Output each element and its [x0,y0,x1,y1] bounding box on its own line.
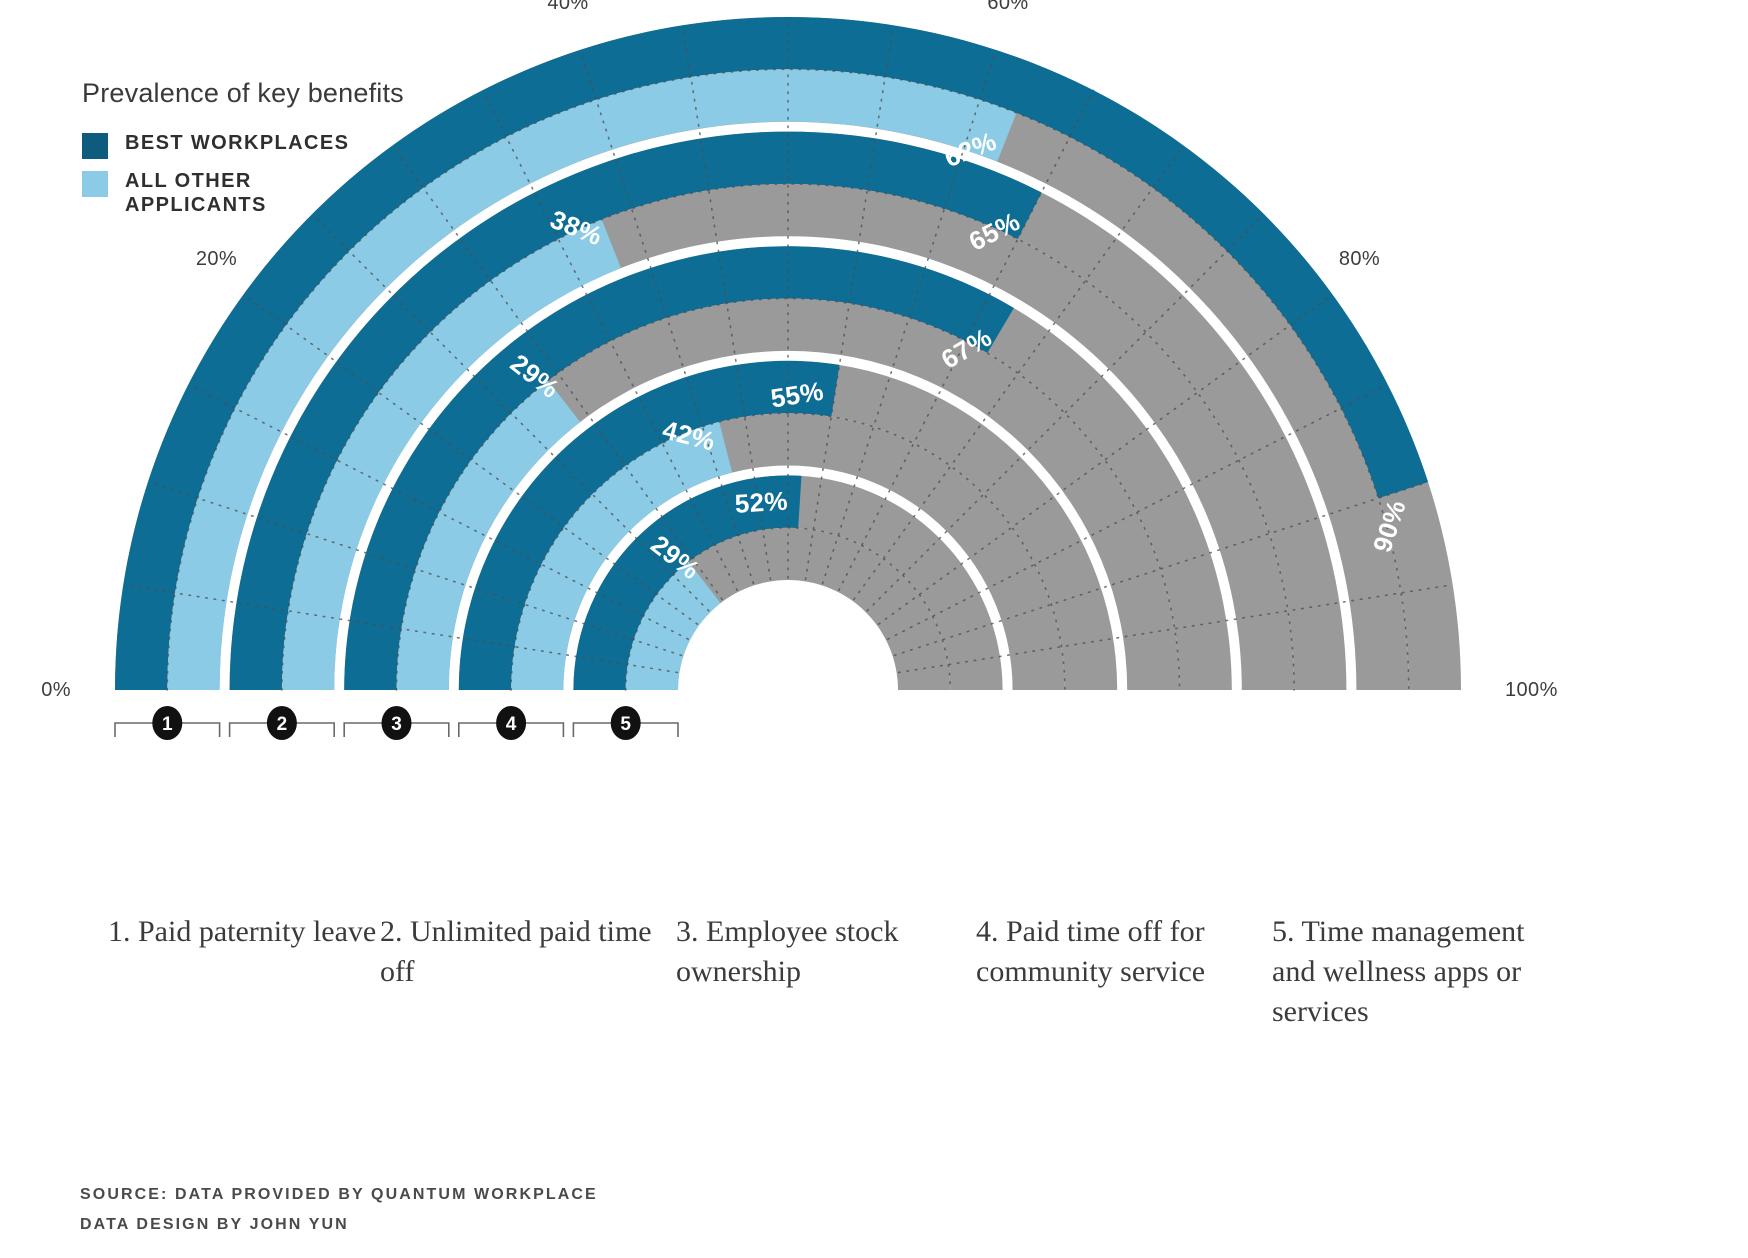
axis-tick-label: 80% [1339,248,1380,270]
axis-tick-label: 100% [1505,679,1558,701]
caption-item: 1. Paid paternity leave [108,912,380,952]
caption-item: 5. Time management and wellness apps or … [1272,912,1572,1032]
radial-stacked-bar-chart: 90%62%65%38%67%29%55%42%52%29% 0%20%40%6… [0,0,1748,800]
axis-tick-label: 20% [196,248,237,270]
value-label: 52% [734,486,789,519]
caption-item: 2. Unlimited paid time off [380,912,676,992]
axis-tick-label: 40% [547,0,588,14]
axis-tick-label: 60% [987,0,1028,14]
caption-list: 1. Paid paternity leave 2. Unlimited pai… [108,912,1668,1032]
chart-page: Prevalence of key benefits BEST WORKPLAC… [0,0,1748,1258]
source-line-2: DATA DESIGN BY JOHN YUN [80,1210,598,1240]
source-line-1: SOURCE: DATA PROVIDED BY QUANTUM WORKPLA… [80,1180,598,1210]
caption-item: 3. Employee stock ownership [676,912,976,992]
caption-item: 4. Paid time off for community service [976,912,1272,992]
axis-tick-label: 0% [41,679,71,701]
source-credit: SOURCE: DATA PROVIDED BY QUANTUM WORKPLA… [80,1180,598,1239]
